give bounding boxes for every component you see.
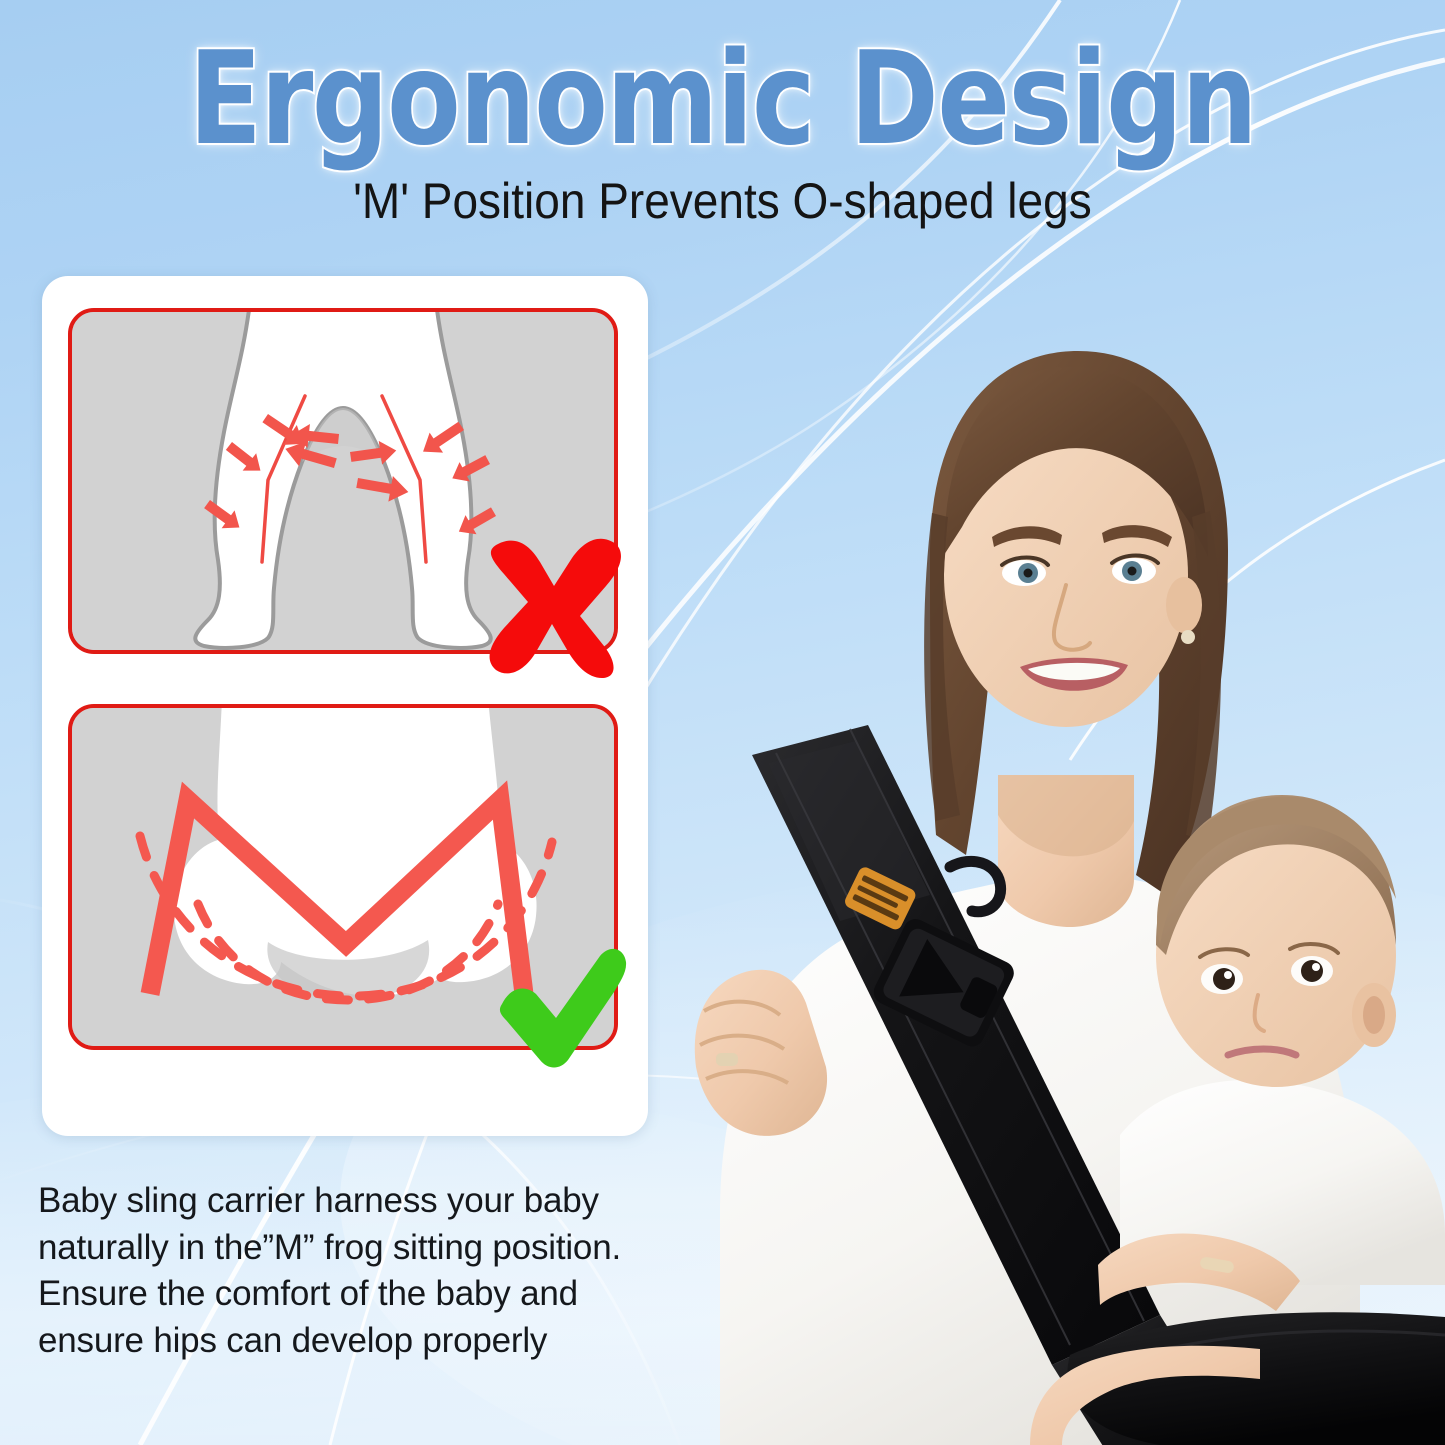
product-marketing-poster: Ergonomic Design 'M' Position Prevents O… <box>0 0 1445 1445</box>
model-photo <box>600 255 1445 1445</box>
o-shaped-legs-illustration <box>72 312 614 650</box>
page-title: Ergonomic Design <box>189 36 1256 164</box>
m-position-panel <box>68 704 618 1050</box>
diagram-card <box>42 276 648 1136</box>
page-subtitle-wrapper: 'M' Position Prevents O-shaped legs <box>0 172 1445 230</box>
page-subtitle: 'M' Position Prevents O-shaped legs <box>353 172 1092 230</box>
page-title-wrapper: Ergonomic Design <box>0 36 1445 164</box>
m-position-illustration <box>72 708 614 1046</box>
o-shaped-legs-panel <box>68 308 618 654</box>
description-paragraph: Baby sling carrier harness your baby nat… <box>38 1178 678 1364</box>
